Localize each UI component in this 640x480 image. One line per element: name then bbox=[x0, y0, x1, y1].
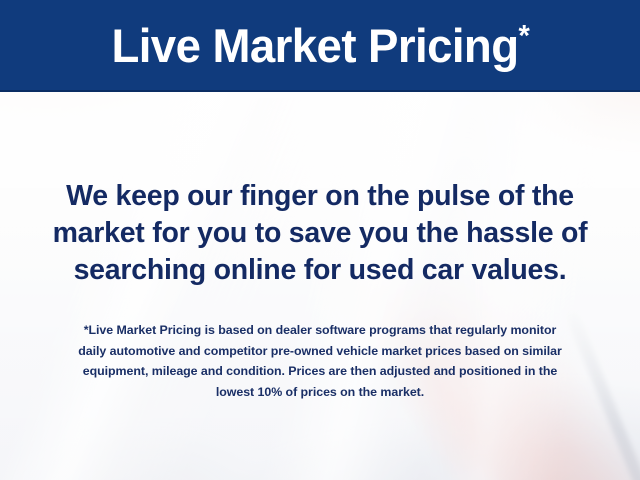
banner-title: Live Market Pricing* bbox=[111, 22, 529, 69]
headline-line-2: market for you to save you the hassle of bbox=[22, 215, 618, 252]
banner-title-text: Live Market Pricing bbox=[111, 19, 518, 72]
headline: We keep our finger on the pulse of the m… bbox=[22, 178, 618, 289]
headline-line-3: searching online for used car values. bbox=[22, 252, 618, 289]
disclaimer-line-4: lowest 10% of prices on the market. bbox=[18, 382, 622, 403]
content-area: We keep our finger on the pulse of the m… bbox=[0, 92, 640, 480]
disclaimer-line-2: daily automotive and competitor pre-owne… bbox=[18, 341, 622, 362]
header-banner: Live Market Pricing* bbox=[0, 0, 640, 92]
banner-title-asterisk: * bbox=[518, 19, 529, 52]
disclaimer-line-1: *Live Market Pricing is based on dealer … bbox=[18, 320, 622, 341]
disclaimer-text: *Live Market Pricing is based on dealer … bbox=[18, 320, 622, 402]
live-market-pricing-promo-card: Live Market Pricing* We keep our finger … bbox=[0, 0, 640, 480]
disclaimer-line-3: equipment, mileage and condition. Prices… bbox=[18, 361, 622, 382]
headline-line-1: We keep our finger on the pulse of the bbox=[22, 178, 618, 215]
